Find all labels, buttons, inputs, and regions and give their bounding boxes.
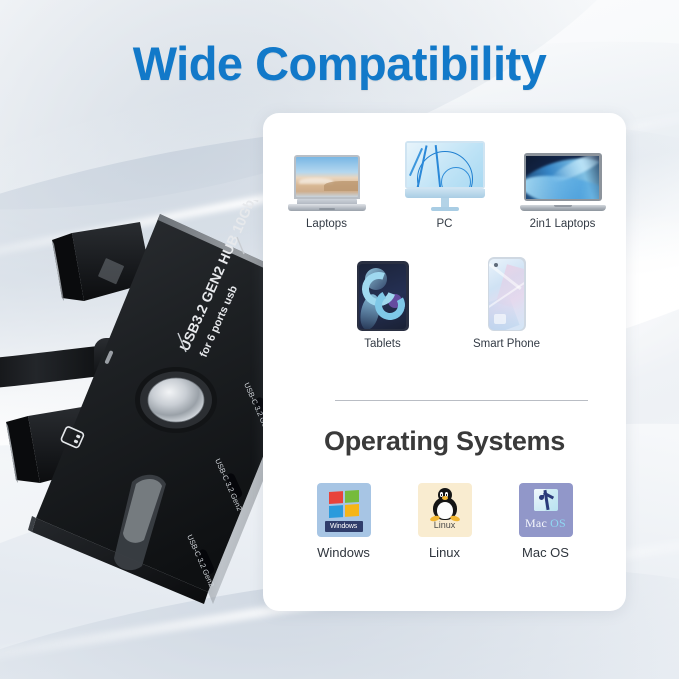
os-label: Mac OS — [515, 545, 577, 560]
os-item-macos: Mac OS Mac OS — [515, 483, 577, 560]
os-section-title: Operating Systems — [263, 426, 626, 457]
linux-wordmark: Linux — [418, 520, 472, 530]
os-item-linux: Linux Linux — [414, 483, 476, 560]
device-label: Smart Phone — [470, 338, 544, 350]
power-button[interactable] — [135, 367, 217, 433]
os-row: Windows Windows Linux — [303, 483, 586, 560]
windows-logo-icon: Windows — [317, 483, 371, 537]
macos-wordmark: Mac OS — [519, 516, 573, 531]
section-divider — [335, 400, 588, 401]
device-label: Tablets — [346, 338, 420, 350]
device-item-tablets: Tablets — [346, 253, 420, 350]
os-label: Linux — [414, 545, 476, 560]
os-label: Windows — [313, 545, 375, 560]
device-item-2in1-laptops: 2in1 Laptops — [517, 133, 609, 230]
convertible-laptop-icon — [517, 133, 609, 211]
smartphone-icon — [470, 253, 544, 331]
usb-c-cable — [0, 346, 102, 390]
page-title: Wide Compatibility — [0, 36, 679, 91]
mac-finder-icon: Mac OS — [519, 483, 573, 537]
device-row-secondary: Tablets Smart Phone — [271, 253, 618, 350]
device-label: PC — [399, 218, 491, 230]
device-item-smart-phone: Smart Phone — [470, 253, 544, 350]
windows-wordmark: Windows — [325, 521, 363, 532]
device-item-pc: PC — [399, 133, 491, 230]
laptop-icon — [281, 133, 373, 211]
linux-tux-icon: Linux — [418, 483, 472, 537]
device-item-laptops: Laptops — [281, 133, 373, 230]
device-label: 2in1 Laptops — [517, 218, 609, 230]
device-row-primary: Laptops — [271, 133, 618, 230]
device-label: Laptops — [281, 218, 373, 230]
tablet-icon — [346, 253, 420, 331]
desktop-imac-icon — [399, 133, 491, 211]
compatibility-card: Laptops — [263, 113, 626, 611]
os-item-windows: Windows Windows — [313, 483, 375, 560]
product-marketing-image: Wide Compatibility Laptops — [0, 0, 679, 679]
